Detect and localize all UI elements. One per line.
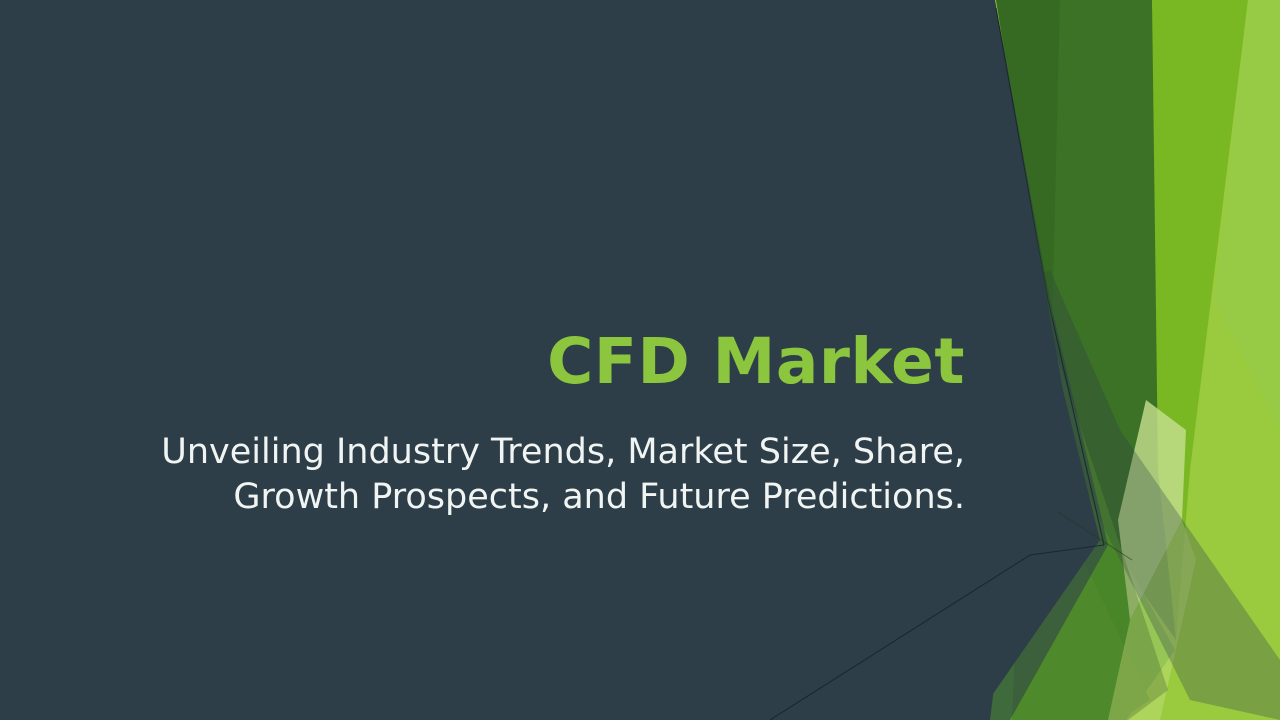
slide-text-layer: CFD Market Unveiling Industry Trends, Ma… <box>0 0 1280 720</box>
slide-subtitle: Unveiling Industry Trends, Market Size, … <box>60 430 965 520</box>
subtitle-block: Unveiling Industry Trends, Market Size, … <box>60 430 965 520</box>
presentation-slide: CFD Market Unveiling Industry Trends, Ma… <box>0 0 1280 720</box>
title-block: CFD Market <box>60 330 965 393</box>
slide-title: CFD Market <box>60 330 965 393</box>
